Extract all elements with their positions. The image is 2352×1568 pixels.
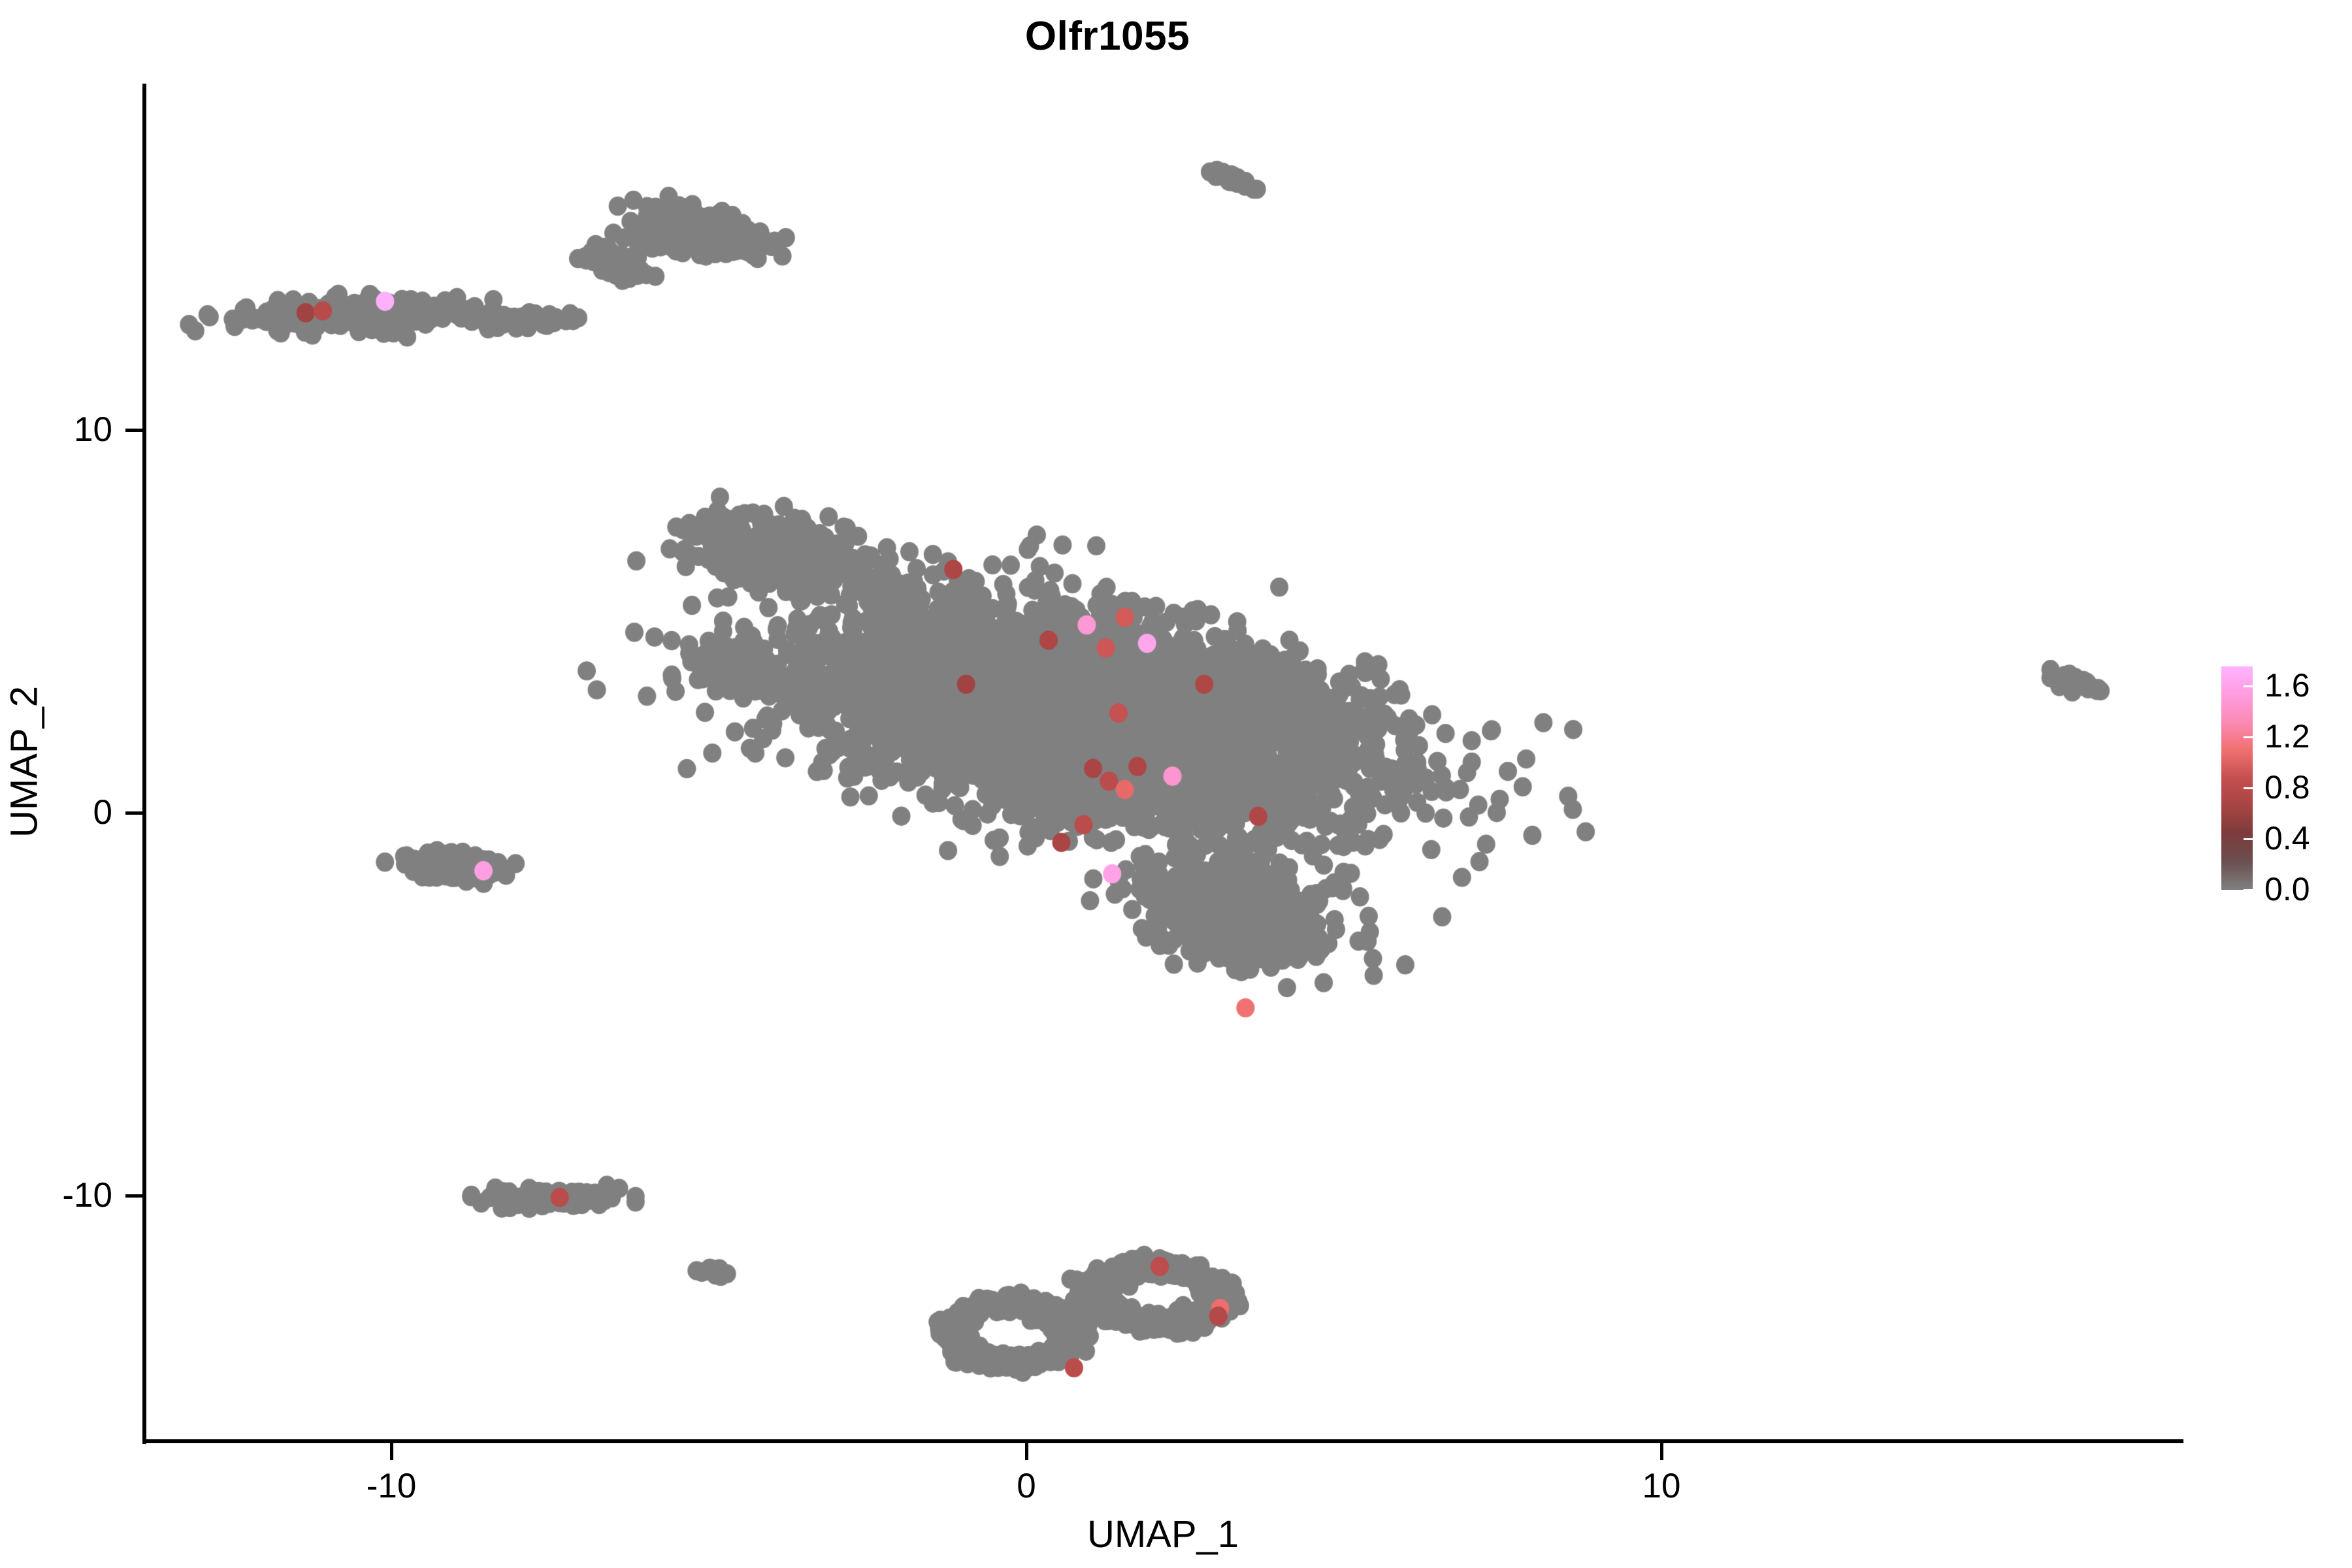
y-tick-mark — [125, 811, 142, 815]
legend-tick-label: 1.2 — [2264, 720, 2310, 753]
legend-tick-mark — [2244, 889, 2253, 891]
legend-tick-mark — [2244, 736, 2253, 738]
legend-tick-mark — [2244, 787, 2253, 789]
x-tick-label: -10 — [367, 1469, 417, 1503]
page-title: Olfr1055 — [0, 14, 2215, 59]
x-tick-mark — [1660, 1443, 1663, 1460]
x-tick-mark — [390, 1443, 393, 1460]
y-tick-label: 10 — [74, 412, 112, 447]
legend-tick-mark — [2244, 685, 2253, 687]
legend-tick-mark — [2244, 838, 2253, 840]
legend-tick-label: 0.4 — [2264, 822, 2310, 855]
x-tick-mark — [1025, 1443, 1028, 1460]
legend-colorbar — [2221, 666, 2253, 890]
umap-feature-plot: Olfr1055 100-10 -10010 UMAP_1 UMAP_2 1.6… — [0, 0, 2352, 1568]
x-tick-label: 10 — [1642, 1469, 1681, 1503]
color-legend: 1.61.20.80.40.0 — [2221, 666, 2345, 902]
y-tick-mark — [125, 429, 142, 432]
y-tick-label: -10 — [62, 1178, 112, 1213]
y-tick-label: 0 — [93, 795, 112, 830]
scatter-plot-canvas — [144, 85, 2182, 1441]
y-tick-mark — [125, 1194, 142, 1198]
legend-tick-label: 1.6 — [2264, 669, 2310, 702]
y-axis-title: UMAP_2 — [6, 84, 44, 1440]
plot-panel — [144, 85, 2182, 1441]
x-tick-label: 0 — [1017, 1469, 1036, 1503]
legend-tick-label: 0.8 — [2264, 771, 2310, 804]
y-axis-line — [142, 84, 146, 1444]
x-axis-title: UMAP_1 — [144, 1516, 2182, 1554]
legend-tick-label: 0.0 — [2264, 873, 2310, 906]
x-axis-line — [142, 1439, 2183, 1443]
